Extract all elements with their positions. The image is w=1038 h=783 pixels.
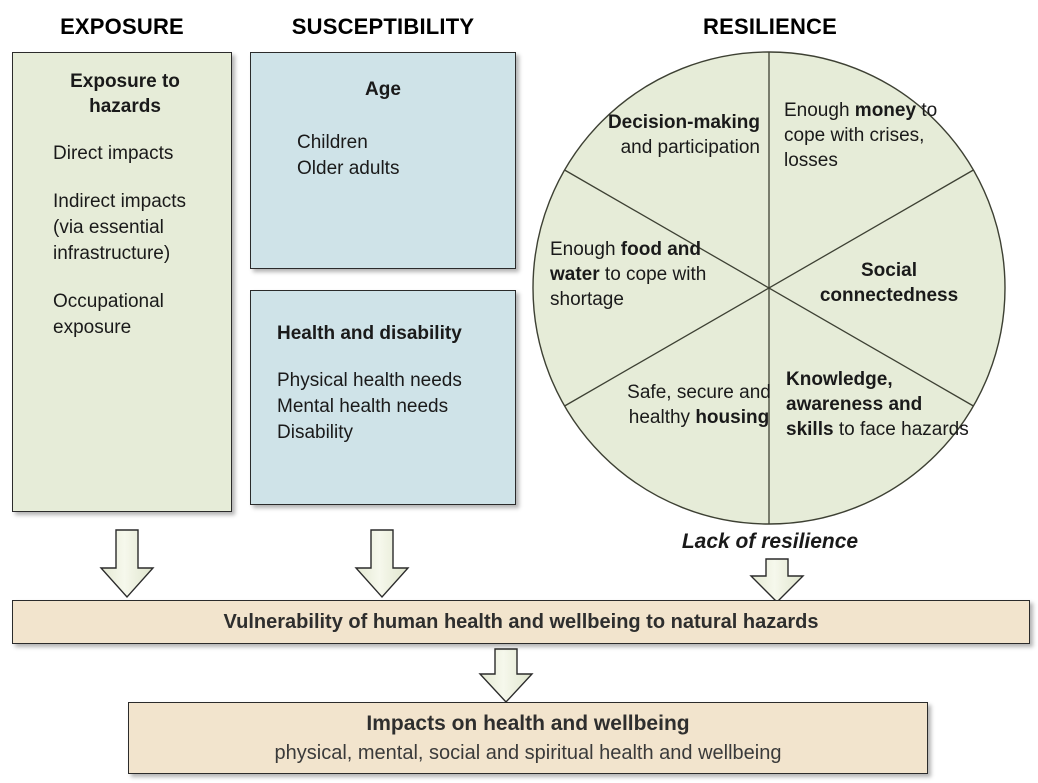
panel-exposure-item-1: Indirect impacts (via essential infrastr…	[53, 189, 219, 267]
panel-age-content: Age Children Older adults	[251, 53, 515, 182]
panel-exposure-content: Exposure to hazards Direct impacts Indir…	[13, 53, 231, 341]
wheel-sector-money: Enough money to cope with crises, losses	[784, 98, 964, 173]
panel-exposure-title-line2: hazards	[31, 94, 219, 119]
panel-age: Age Children Older adults	[250, 52, 516, 269]
heading-exposure: EXPOSURE	[12, 14, 232, 40]
panel-exposure-item-2: Occupational exposure	[53, 289, 219, 341]
bar-vulnerability-text: Vulnerability of human health and wellbe…	[224, 611, 819, 634]
panel-health-item-2: Disability	[277, 420, 505, 446]
resilience-wheel: Decision-making and participation Enough…	[532, 50, 1010, 528]
panel-age-item-0: Children	[297, 130, 505, 156]
heading-resilience: RESILIENCE	[600, 14, 940, 40]
wheel-sector-decision-making: Decision-making and participation	[594, 110, 760, 160]
panel-exposure: Exposure to hazards Direct impacts Indir…	[12, 52, 232, 512]
panel-age-item-1: Older adults	[297, 156, 505, 182]
bar-impacts-subtitle: physical, mental, social and spiritual h…	[275, 739, 782, 767]
panel-health-title: Health and disability	[277, 321, 505, 346]
diagram-canvas: EXPOSURE SUSCEPTIBILITY RESILIENCE Expos…	[0, 0, 1038, 783]
arrow-down-icon-susceptibility	[353, 528, 411, 600]
panel-health-item-0: Physical health needs	[277, 368, 505, 394]
panel-health-content: Health and disability Physical health ne…	[251, 291, 515, 446]
lack-of-resilience-caption: Lack of resilience	[620, 530, 920, 554]
wheel-sector-knowledge: Knowledge, awareness and skills to face …	[786, 367, 972, 442]
bar-impacts-title: Impacts on health and wellbeing	[366, 709, 689, 739]
heading-susceptibility: SUSCEPTIBILITY	[248, 14, 518, 40]
wheel-sector-housing: Safe, secure and healthy housing	[624, 380, 774, 430]
panel-exposure-item-0: Direct impacts	[53, 141, 219, 167]
panel-health-disability: Health and disability Physical health ne…	[250, 290, 516, 505]
wheel-sector-social-connectedness: Social connectedness	[794, 258, 984, 308]
wheel-sector-food-and-water: Enough food and water to cope with short…	[550, 237, 716, 312]
arrow-down-icon-vulnerability-to-impacts	[477, 648, 535, 704]
bar-vulnerability: Vulnerability of human health and wellbe…	[12, 600, 1030, 644]
panel-health-item-1: Mental health needs	[277, 394, 505, 420]
bar-impacts: Impacts on health and wellbeing physical…	[128, 702, 928, 774]
panel-age-title: Age	[261, 77, 505, 102]
arrow-down-icon-exposure	[98, 528, 156, 600]
panel-exposure-title-line1: Exposure to	[31, 69, 219, 94]
arrow-down-icon-resilience	[748, 558, 806, 604]
